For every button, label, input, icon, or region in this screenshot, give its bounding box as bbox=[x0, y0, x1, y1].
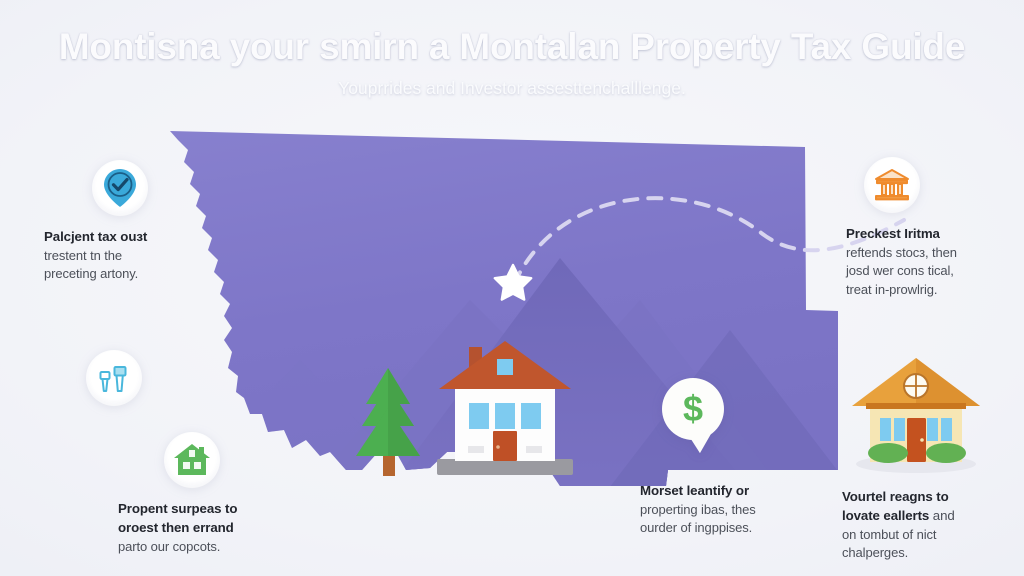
home-green-badge bbox=[164, 432, 220, 488]
callout-heading-2: lovate eallerts and bbox=[842, 507, 1024, 526]
star-marker bbox=[493, 262, 533, 302]
tools-icon bbox=[96, 360, 132, 396]
callout-body-line-1: properting ibas, thes bbox=[640, 501, 818, 519]
map-pin-check-badge bbox=[92, 160, 148, 216]
bank-courthouse-icon bbox=[872, 166, 912, 204]
callout-heading: Preckest Iritma bbox=[846, 225, 1024, 244]
callout-bottom-right[interactable]: Vourtel reagns to lovate eallerts and on… bbox=[842, 358, 1024, 563]
page-subtitle: Youprrides and Investor assesttenchallle… bbox=[0, 78, 1024, 99]
header: Montisna your smirn a Montalan Property … bbox=[0, 26, 1024, 99]
callout-body-line-2: preceting artony. bbox=[44, 265, 234, 283]
callout-heading: Palcjent tax ouзt bbox=[44, 228, 234, 247]
dollar-bubble-badge: $ bbox=[662, 378, 724, 440]
callout-heading-2-tail: and bbox=[929, 508, 954, 523]
callout-body-line-1: parto our copcots. bbox=[118, 538, 323, 556]
callout-text: Vourtel reagns to lovate eallerts and on… bbox=[842, 488, 1024, 563]
callout-text: Propent surpeas to oroest then errand pa… bbox=[118, 500, 323, 556]
callout-body-line-1: trestent tn the bbox=[44, 247, 234, 265]
callout-heading-2-bold: lovate eallerts bbox=[842, 508, 929, 523]
callout-heading: Morset leantify or bbox=[640, 482, 818, 501]
callout-body-line-2: chalperges. bbox=[842, 544, 1024, 562]
dollar-bubble-icon: $ bbox=[676, 388, 710, 430]
callout-body-line-1: reftends stocз, then bbox=[846, 244, 1024, 262]
page-title: Montisna your smirn a Montalan Property … bbox=[0, 26, 1024, 67]
callout-bottom-left[interactable]: Propent surpeas to oroest then errand pa… bbox=[118, 432, 323, 556]
svg-text:$: $ bbox=[683, 388, 703, 429]
callout-text: Preckest Iritma reftends stocз, then jos… bbox=[846, 225, 1024, 299]
callout-heading-2: oroest then errand bbox=[118, 519, 323, 538]
callout-body-line-3: treat in-prowlrig. bbox=[846, 281, 1024, 299]
callout-bottom-center[interactable]: $ Morset leantify or properting ibas, th… bbox=[640, 378, 818, 538]
callout-heading: Propent surpeas to bbox=[118, 500, 323, 519]
pine-tree bbox=[352, 360, 424, 482]
bank-courthouse-badge bbox=[864, 157, 920, 213]
tools-badge bbox=[86, 350, 142, 406]
callout-top-left[interactable]: Palcjent tax ouзt trestent tn the precet… bbox=[44, 160, 234, 284]
callout-body-line-2: josd wer cons tical, bbox=[846, 262, 1024, 280]
white-house-illustration bbox=[425, 333, 585, 481]
callout-heading: Vourtel reagns to bbox=[842, 488, 1024, 507]
callout-text: Morset leantify or properting ibas, thes… bbox=[640, 482, 818, 538]
callout-top-right[interactable]: Preckest Iritma reftends stocз, then jos… bbox=[846, 157, 1024, 299]
map-pin-check-icon bbox=[100, 166, 140, 210]
callout-mid-left[interactable] bbox=[86, 350, 266, 406]
callout-body-line-1: on tombut of nict bbox=[842, 526, 1024, 544]
infographic-canvas: Montisna your smirn a Montalan Property … bbox=[0, 0, 1024, 576]
home-green-icon bbox=[172, 441, 212, 479]
callout-body-line-2: ourder of ingppises. bbox=[640, 519, 818, 537]
callout-text: Palcjent tax ouзt trestent tn the precet… bbox=[44, 228, 234, 284]
